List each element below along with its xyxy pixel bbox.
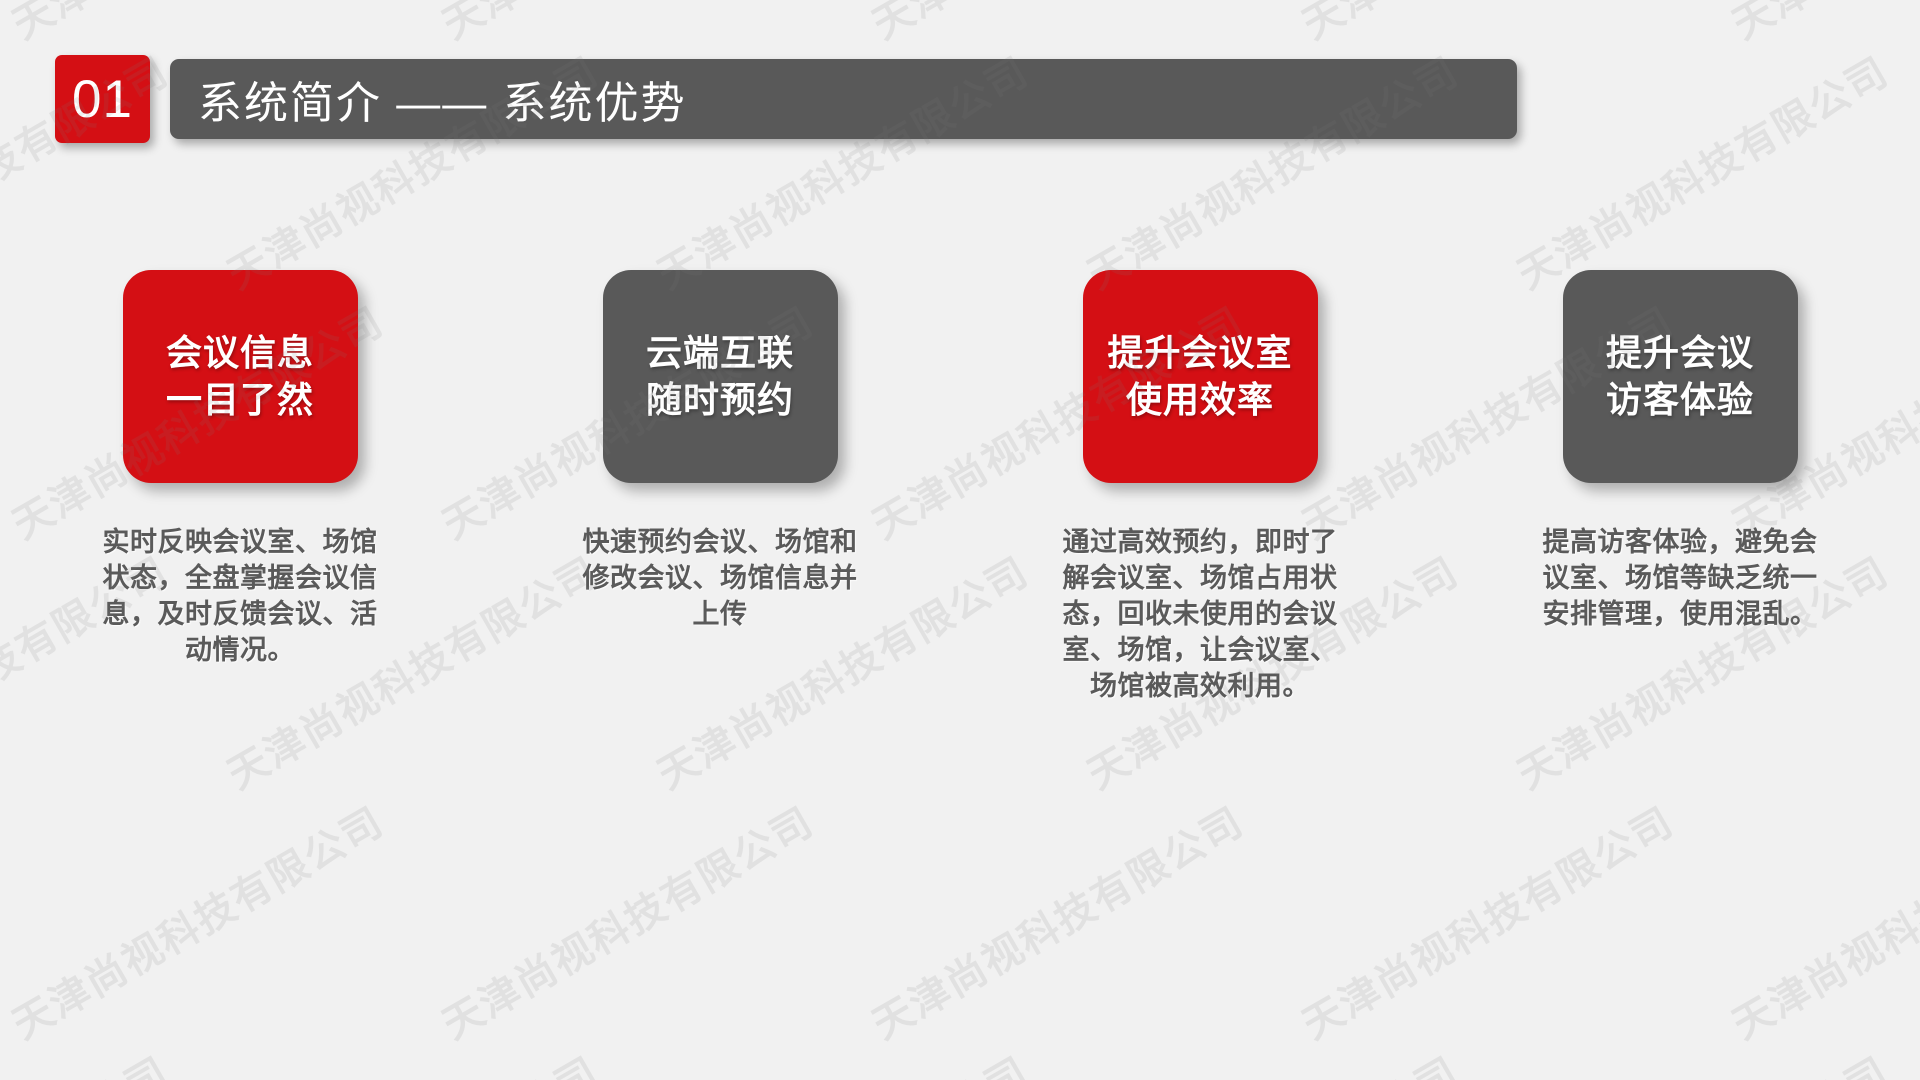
slide-canvas: 01 系统简介 —— 系统优势 会议信息 一目了然 实时反映会议室、场馆状态，全…	[0, 0, 1920, 1080]
card-caption-1: 实时反映会议室、场馆状态，全盘掌握会议信息，及时反馈会议、活动情况。	[90, 525, 390, 669]
card-title-1-line2: 一目了然	[166, 377, 314, 424]
title-bar: 系统简介 —— 系统优势	[170, 59, 1517, 139]
card-tile-2[interactable]: 云端互联 随时预约	[603, 270, 838, 483]
card-tile-3[interactable]: 提升会议室 使用效率	[1083, 270, 1318, 483]
card-title-2-line2: 随时预约	[646, 377, 794, 424]
advantage-card-3: 提升会议室 使用效率 通过高效预约，即时了解会议室、场馆占用状态，回收未使用的会…	[960, 270, 1440, 705]
card-caption-3: 通过高效预约，即时了解会议室、场馆占用状态，回收未使用的会议室、场馆，让会议室、…	[1050, 525, 1350, 705]
card-caption-2: 快速预约会议、场馆和修改会议、场馆信息并上传	[570, 525, 870, 633]
card-title-3-line1: 提升会议室	[1107, 330, 1292, 377]
section-number-badge: 01	[55, 55, 150, 143]
card-title-1-line1: 会议信息	[166, 330, 314, 377]
advantage-card-1: 会议信息 一目了然 实时反映会议室、场馆状态，全盘掌握会议信息，及时反馈会议、活…	[0, 270, 480, 669]
advantage-card-2: 云端互联 随时预约 快速预约会议、场馆和修改会议、场馆信息并上传	[480, 270, 960, 633]
card-tile-1[interactable]: 会议信息 一目了然	[123, 270, 358, 483]
card-title-3-line2: 使用效率	[1126, 377, 1274, 424]
advantage-cards-row: 会议信息 一目了然 实时反映会议室、场馆状态，全盘掌握会议信息，及时反馈会议、活…	[0, 270, 1920, 830]
card-caption-4: 提高访客体验，避免会议室、场馆等缺乏统一安排管理，使用混乱。	[1530, 525, 1830, 633]
card-title-2-line1: 云端互联	[646, 330, 794, 377]
page-title: 系统简介 —— 系统优势	[170, 67, 686, 131]
card-title-4-line2: 访客体验	[1606, 377, 1754, 424]
card-title-4-line1: 提升会议	[1606, 330, 1754, 377]
advantage-card-4: 提升会议 访客体验 提高访客体验，避免会议室、场馆等缺乏统一安排管理，使用混乱。	[1440, 270, 1920, 633]
card-tile-4[interactable]: 提升会议 访客体验	[1563, 270, 1798, 483]
section-number-label: 01	[72, 73, 133, 126]
slide-header: 01 系统简介 —— 系统优势	[0, 55, 1920, 145]
